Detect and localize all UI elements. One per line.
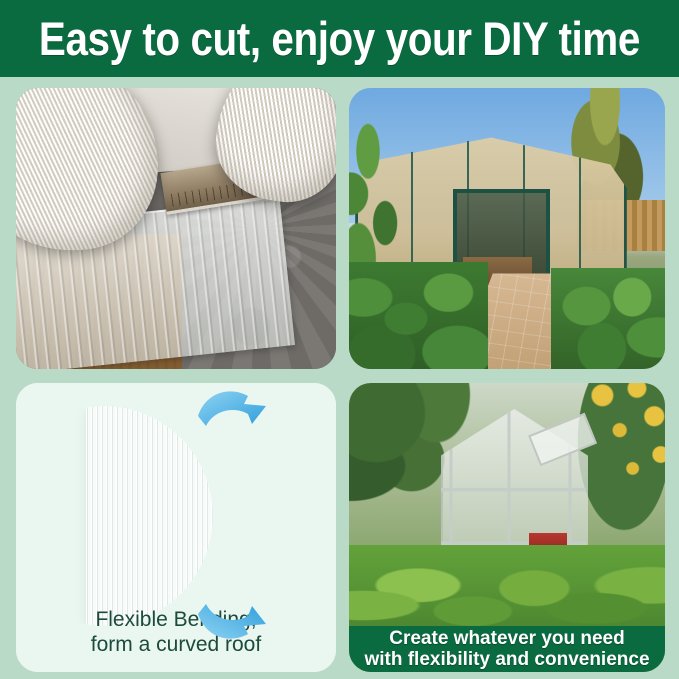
panel-greenhouse-large (349, 88, 665, 369)
bending-caption: Flexible Bending, form a curved roof (16, 607, 336, 658)
bend-arrow-top-icon (196, 386, 268, 442)
climbing-vine (349, 122, 425, 285)
panel-greenhouse-silver: Create whatever you need with flexibilit… (349, 383, 665, 672)
panel-flexible-bending: Flexible Bending, form a curved roof (16, 383, 336, 672)
cutting-photo-image (16, 88, 336, 369)
panel-cutting-photo (16, 88, 336, 369)
bottom-right-banner: Create whatever you need with flexibilit… (349, 626, 665, 672)
header-banner: Easy to cut, enjoy your DIY time (0, 0, 679, 77)
page-title: Easy to cut, enjoy your DIY time (39, 15, 640, 62)
bending-caption-line1: Flexible Bending, (16, 607, 336, 633)
potted-plants-left (349, 262, 488, 369)
potted-plants-right (551, 268, 665, 369)
bending-caption-line2: form a curved roof (16, 632, 336, 658)
banner-line1: Create whatever you need (389, 628, 624, 649)
bend-arrow-bottom-icon (196, 588, 268, 644)
greenhouse-large-image (349, 88, 665, 369)
banner-line2: with flexibility and convenience (364, 649, 649, 670)
